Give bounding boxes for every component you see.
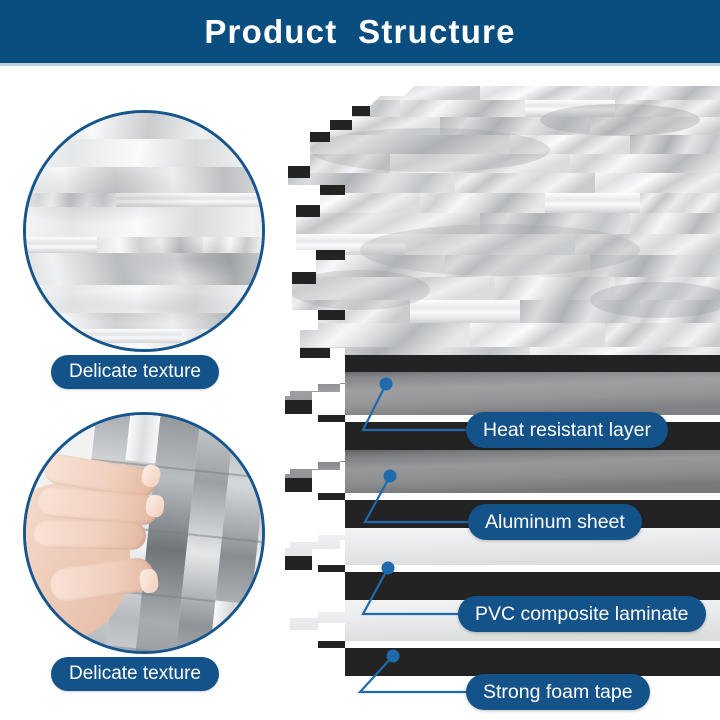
callout-label-delicate-texture-bottom[interactable]: Delicate texture: [51, 657, 219, 691]
leader-dot-foam-tape: [387, 650, 400, 663]
hand-peel-image: [26, 415, 262, 651]
label-strong-foam-tape-text: Strong foam tape: [483, 681, 633, 704]
leader-dot-heat-resistant: [380, 378, 393, 391]
texture-closeup-circle: [23, 110, 265, 352]
callout-delicate-texture-top: Delicate texture: [23, 110, 265, 352]
label-pvc-composite-laminate[interactable]: PVC composite laminate: [458, 596, 706, 632]
label-pvc-composite-laminate-text: PVC composite laminate: [475, 603, 689, 626]
callout-delicate-texture-bottom: Delicate texture: [23, 412, 265, 654]
hand-peel-circle: [23, 412, 265, 654]
label-heat-resistant-layer-text: Heat resistant layer: [483, 419, 651, 442]
callout-label-bottom-text: Delicate texture: [69, 663, 201, 685]
texture-closeup-image: [26, 113, 262, 349]
callout-label-delicate-texture-top[interactable]: Delicate texture: [51, 355, 219, 389]
product-structure-infographic: Product Structure: [0, 0, 720, 720]
label-aluminum-sheet-text: Aluminum sheet: [485, 511, 625, 534]
leader-dot-pvc: [382, 562, 395, 575]
label-aluminum-sheet[interactable]: Aluminum sheet: [468, 504, 642, 540]
callout-label-top-text: Delicate texture: [69, 361, 201, 383]
label-strong-foam-tape[interactable]: Strong foam tape: [466, 674, 650, 710]
leader-dot-aluminum: [384, 470, 397, 483]
label-heat-resistant-layer[interactable]: Heat resistant layer: [466, 412, 668, 448]
